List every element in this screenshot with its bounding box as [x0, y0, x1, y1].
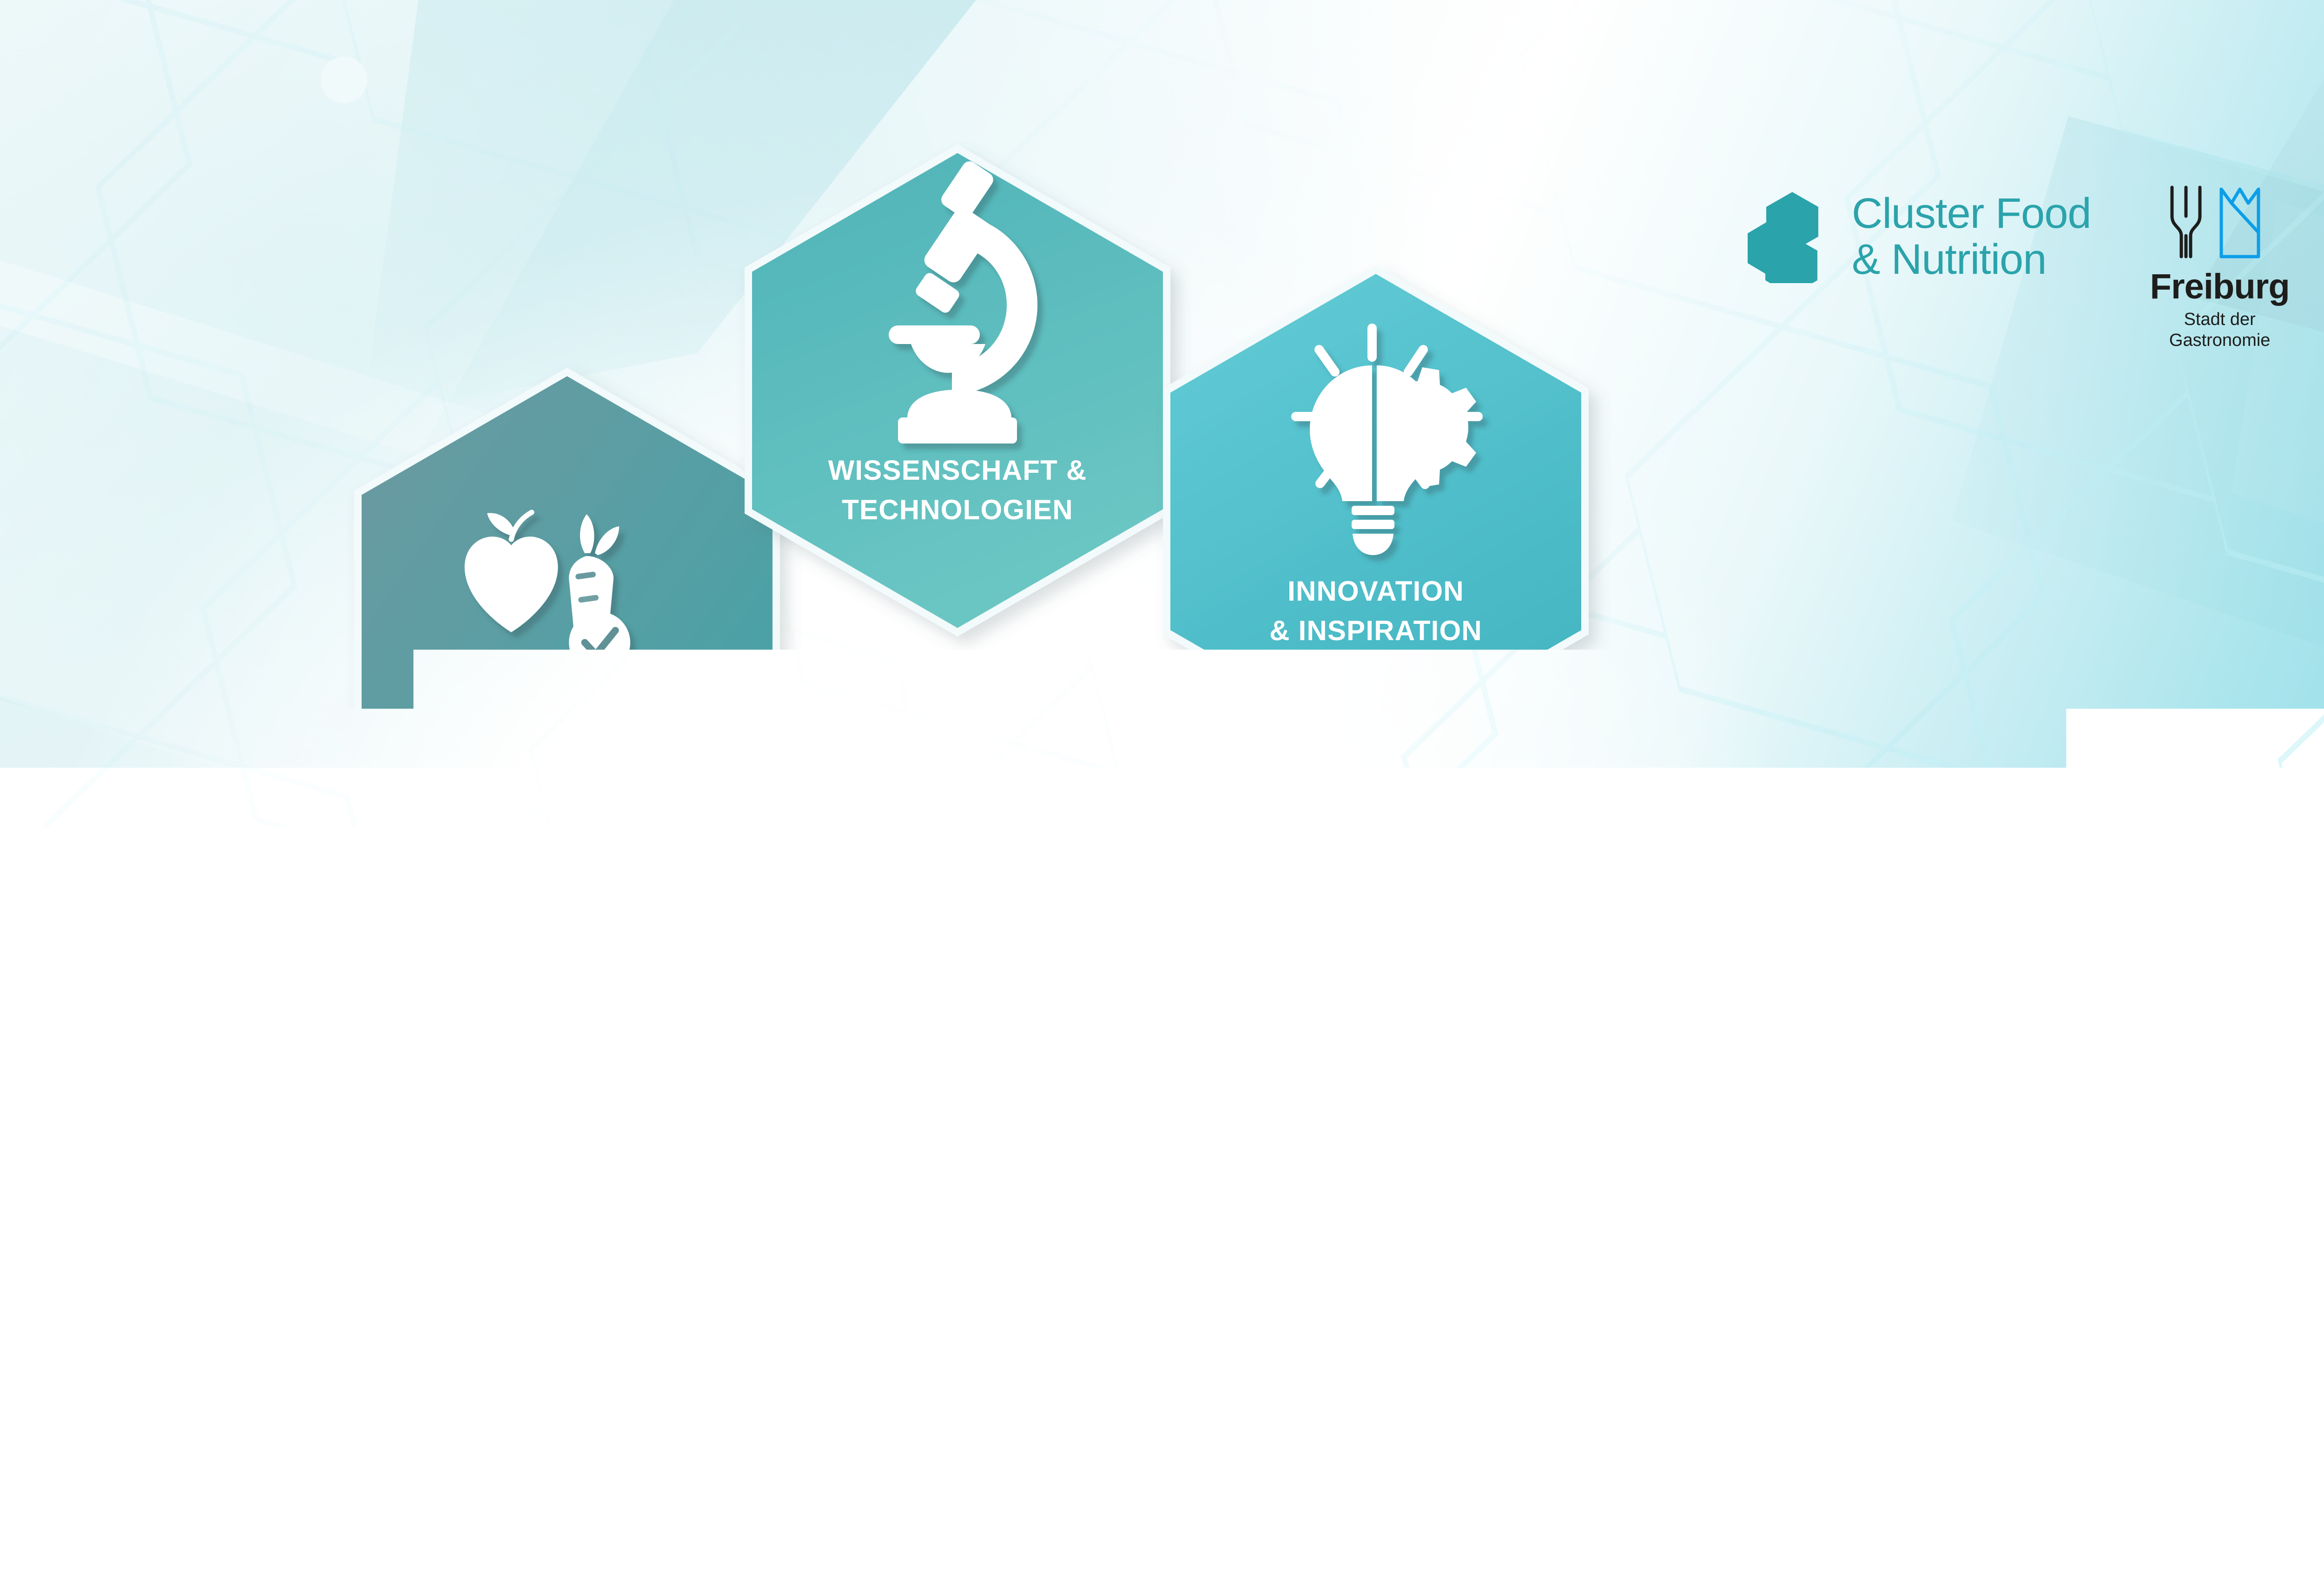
fork-and-tower-icon: [2162, 184, 2278, 260]
hexagon-label-line2: & INSPIRATION: [1269, 615, 1482, 646]
hexagon-maerkte-trends[interactable]: MÄRKTE & TRENDS: [869, 967, 1287, 1450]
freiburg-subtitle-line2: Gastronomie: [2143, 330, 2297, 351]
event-year: 2026: [1648, 894, 1908, 1013]
page-title: INNOFOOD: [1339, 762, 1972, 882]
sponsor-logo-row: Cluster Food & Nutrition Freib: [1748, 184, 2324, 351]
event-title-block: INNOFOOD &C 2026 07.05.2026 FORUM FRIBOU…: [1339, 762, 2075, 1180]
poster-canvas: ERNÄHRUNG & GESUNDHEIT WISSENSCHAFT: [0, 0, 2324, 1569]
three-hexagons-mark: [1748, 190, 1836, 283]
event-venue: FORUM FRIBOURG: [1339, 1117, 2016, 1180]
cfn-line-2: & Nutrition: [1852, 237, 2091, 283]
hexagon-wissenschaft-technologien[interactable]: WISSENSCHAFT & TECHNOLOGIEN: [748, 149, 1167, 632]
event-date: 07.05.2026: [1339, 1040, 2001, 1110]
hexagon-label-line2: TRENDS: [1019, 1298, 1137, 1329]
hexagon-label-line1: WISSENSCHAFT &: [828, 455, 1087, 486]
hexagon-ernaehrung-gesundheit[interactable]: ERNÄHRUNG & GESUNDHEIT: [358, 372, 776, 855]
hexagon-innovation-inspiration[interactable]: INNOVATION & INSPIRATION: [1167, 270, 1585, 753]
title-second-row: &C 2026: [1339, 891, 2075, 1013]
title-ampersand-c: &C: [1339, 894, 1509, 1013]
freiburg-subtitle: Stadt der Gastronomie: [2143, 309, 2297, 351]
cluster-food-nutrition-text: Cluster Food & Nutrition: [1852, 191, 2091, 283]
hexagon-letter-o-icon: [1538, 891, 1645, 1001]
freiburg-stadt-der-gastronomie-logo[interactable]: Freiburg Stadt der Gastronomie: [2143, 184, 2297, 351]
hexagon-nachhaltigkeit[interactable]: NACHHALTIGKEIT: [451, 841, 869, 1325]
hexagon-label-line2: TECHNOLOGIEN: [842, 494, 1073, 525]
freiburg-subtitle-line1: Stadt der: [2143, 309, 2297, 330]
hexagon-label-line1: NACHHALTIGKEIT: [533, 1130, 787, 1161]
freiburg-wordmark: Freiburg: [2143, 269, 2297, 305]
hexagon-label-line1: INNOVATION: [1287, 576, 1464, 607]
cluster-food-nutrition-logo[interactable]: Cluster Food & Nutrition: [1748, 190, 2091, 283]
hexagon-label-line1: MÄRKTE &: [1003, 1258, 1154, 1289]
hexagon-label-line2: GESUNDHEIT: [473, 712, 661, 743]
cfn-line-1: Cluster Food: [1852, 191, 2091, 237]
hexagon-label-line1: ERNÄHRUNG &: [459, 672, 674, 703]
